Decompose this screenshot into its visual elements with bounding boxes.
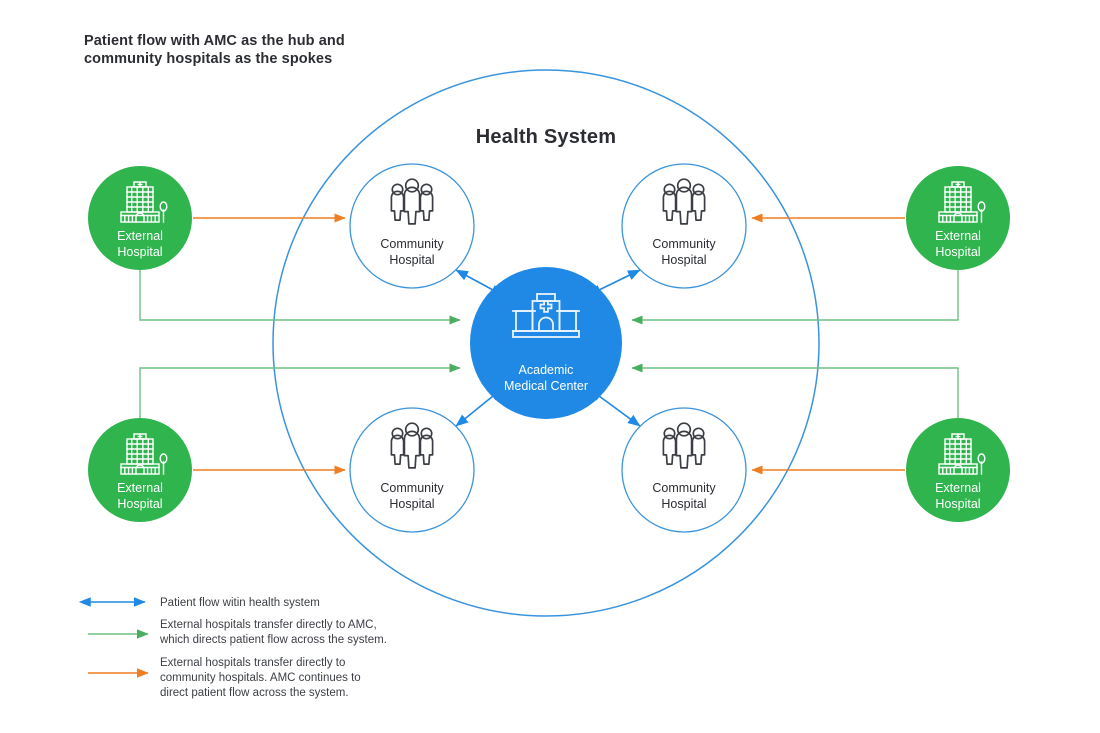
external-hospital-top-right[interactable]: External Hospital — [906, 166, 1010, 270]
community-hospital-label-line-1: Community — [652, 237, 716, 251]
external-hospital-top-left[interactable]: External Hospital — [88, 166, 192, 270]
community-hospital-label-line-1: Community — [380, 237, 444, 251]
external-hospital-label-line-1: External — [117, 481, 163, 495]
legend-label-line: which directs patient flow across the sy… — [159, 634, 387, 646]
external-hospital-bottom-left[interactable]: External Hospital — [88, 418, 192, 522]
blue-flow-amc-bottom-right — [599, 396, 640, 426]
legend-item-external-to-community: External hospitals transfer directly to … — [88, 657, 361, 699]
academic-medical-center-node[interactable]: Academic Medical Center — [470, 267, 622, 419]
legend: Patient flow witin health system Externa… — [88, 597, 387, 699]
external-hospital-bottom-right[interactable]: External Hospital — [906, 418, 1010, 522]
community-hospital-top-left[interactable]: Community Hospital — [350, 164, 474, 288]
community-hospital-circle — [350, 408, 474, 532]
external-hospital-label-line-2: Hospital — [935, 497, 980, 511]
community-hospital-label-line-2: Hospital — [661, 253, 706, 267]
hub-and-spoke-diagram: Health System External Hospital External… — [0, 0, 1100, 733]
community-hospital-label-line-2: Hospital — [661, 497, 706, 511]
legend-label-line: direct patient flow across the system. — [160, 687, 349, 699]
blue-flow-amc-top-right — [599, 270, 640, 290]
legend-label-line: External hospitals transfer directly to … — [160, 619, 377, 631]
community-hospital-label-line-1: Community — [380, 481, 444, 495]
external-hospital-label-line-1: External — [117, 229, 163, 243]
amc-label-line-1: Academic — [519, 363, 574, 377]
blue-flow-amc-top-left — [456, 270, 493, 290]
community-hospital-label-line-2: Hospital — [389, 497, 434, 511]
community-hospital-label-line-2: Hospital — [389, 253, 434, 267]
blue-flow-amc-bottom-left — [456, 396, 493, 426]
external-hospital-label-line-2: Hospital — [117, 245, 162, 259]
legend-label-line: External hospitals transfer directly to — [160, 657, 345, 669]
external-hospital-label-line-2: Hospital — [935, 245, 980, 259]
community-hospital-top-right[interactable]: Community Hospital — [622, 164, 746, 288]
community-hospital-label-line-1: Community — [652, 481, 716, 495]
external-hospital-label-line-1: External — [935, 481, 981, 495]
community-hospital-circle — [350, 164, 474, 288]
community-hospital-circle — [622, 408, 746, 532]
community-hospital-bottom-right[interactable]: Community Hospital — [622, 408, 746, 532]
external-hospital-label-line-1: External — [935, 229, 981, 243]
legend-label-line: Patient flow witin health system — [160, 597, 320, 609]
diagram-canvas: Patient flow with AMC as the hub and com… — [0, 0, 1100, 733]
amc-circle — [470, 267, 622, 419]
legend-label-line: community hospitals. AMC continues to — [160, 672, 361, 684]
community-hospital-circle — [622, 164, 746, 288]
legend-item-external-to-amc: External hospitals transfer directly to … — [88, 619, 387, 646]
health-system-label: Health System — [476, 126, 616, 148]
amc-label-line-2: Medical Center — [504, 379, 588, 393]
external-hospital-label-line-2: Hospital — [117, 497, 162, 511]
community-hospital-bottom-left[interactable]: Community Hospital — [350, 408, 474, 532]
legend-item-patient-flow-within: Patient flow witin health system — [90, 597, 320, 609]
